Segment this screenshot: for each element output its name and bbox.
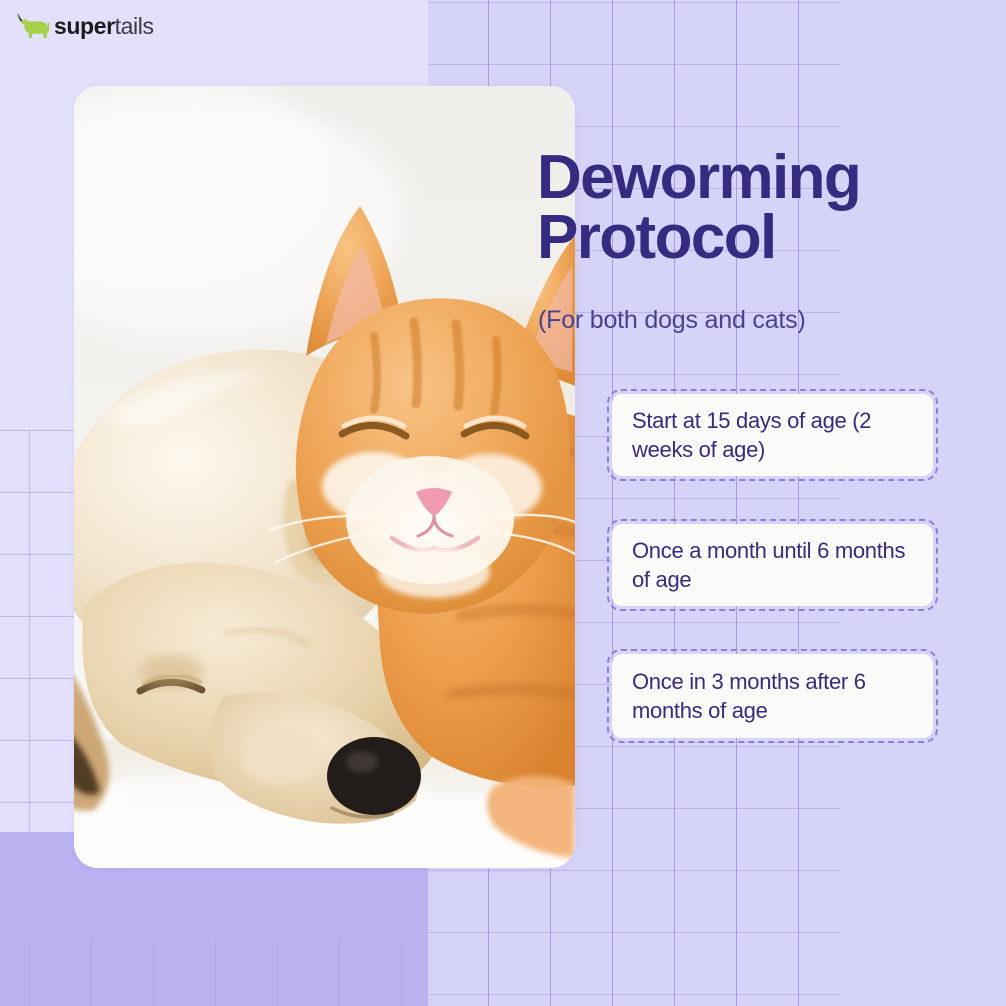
protocol-step-card: Once in 3 months after 6 months of age — [607, 649, 938, 743]
protocol-step-surface: Once in 3 months after 6 months of age — [612, 654, 933, 738]
page-subtitle: (For both dogs and cats) — [538, 306, 806, 335]
protocol-step-card: Start at 15 days of age (2 weeks of age) — [607, 389, 938, 481]
hero-photo-card — [74, 86, 575, 868]
protocol-step-text: Once a month until 6 months of age — [632, 536, 915, 594]
dog-silhouette-icon — [16, 13, 50, 39]
protocol-step-surface: Once a month until 6 months of age — [612, 524, 933, 606]
brand-wordmark: supertails — [54, 15, 154, 38]
protocol-step-text: Once in 3 months after 6 months of age — [632, 667, 915, 725]
protocol-step-card: Once a month until 6 months of age — [607, 519, 938, 611]
puppy-kitten-photo — [74, 86, 575, 868]
infographic-canvas: supertails — [0, 0, 1006, 1006]
brand-name-bold: super — [54, 13, 115, 39]
protocol-step-text: Start at 15 days of age (2 weeks of age) — [632, 406, 915, 464]
page-title-line-2: Protocol — [537, 208, 997, 268]
protocol-step-surface: Start at 15 days of age (2 weeks of age) — [612, 394, 933, 476]
page-title-line-1: Deworming — [537, 148, 997, 208]
page-title: Deworming Protocol — [537, 148, 997, 267]
brand-name-light: tails — [115, 13, 154, 39]
brand-logo[interactable]: supertails — [16, 11, 154, 41]
